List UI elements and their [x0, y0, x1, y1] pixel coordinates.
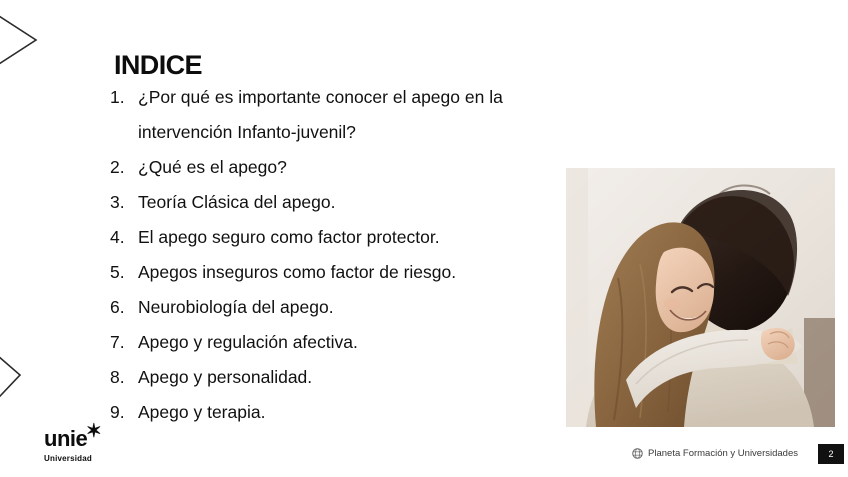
logo-wordmark: unie ✶	[44, 428, 87, 450]
list-item-number: 1.	[110, 80, 138, 115]
list-item-number: 6.	[110, 290, 138, 325]
slide-canvas: INDICE 1. ¿Por qué es importante conocer…	[0, 0, 848, 477]
list-item-label: Apegos inseguros como factor de riesgo.	[138, 255, 560, 290]
list-item-label: Neurobiología del apego.	[138, 290, 560, 325]
list-item-number: 8.	[110, 360, 138, 395]
page-title: INDICE	[114, 51, 202, 81]
globe-icon	[632, 448, 643, 459]
page-number-badge: 2	[818, 444, 844, 464]
list-item: 7. Apego y regulación afectiva.	[110, 325, 560, 360]
list-item: 2. ¿Qué es el apego?	[110, 150, 560, 185]
list-item-label: Apego y personalidad.	[138, 360, 560, 395]
logo-word-text: unie	[44, 426, 87, 451]
chevron-decoration-top	[0, 0, 40, 86]
planeta-branding: Planeta Formación y Universidades	[632, 448, 798, 459]
slide-photo	[566, 168, 835, 427]
list-item-label: Apego y regulación afectiva.	[138, 325, 560, 360]
logo-subtitle: Universidad	[44, 454, 154, 463]
list-item: 9. Apego y terapia.	[110, 395, 560, 430]
list-item: 3. Teoría Clásica del apego.	[110, 185, 560, 220]
list-item-label: Teoría Clásica del apego.	[138, 185, 560, 220]
list-item: 4. El apego seguro como factor protector…	[110, 220, 560, 255]
chevron-decoration-bottom	[0, 335, 26, 415]
list-item-number: 4.	[110, 220, 138, 255]
list-item-number: 7.	[110, 325, 138, 360]
index-list: 1. ¿Por qué es importante conocer el ape…	[110, 80, 560, 430]
list-item-label: ¿Qué es el apego?	[138, 150, 560, 185]
list-item-label: Apego y terapia.	[138, 395, 560, 430]
asterisk-icon: ✶	[86, 422, 101, 441]
unie-logo: unie ✶ Universidad	[44, 428, 154, 463]
list-item: 6. Neurobiología del apego.	[110, 290, 560, 325]
list-item-number: 3.	[110, 185, 138, 220]
brand-label: Planeta Formación y Universidades	[648, 448, 798, 459]
list-item-number: 5.	[110, 255, 138, 290]
list-item: 8. Apego y personalidad.	[110, 360, 560, 395]
list-item-number: 9.	[110, 395, 138, 430]
list-item-number: 2.	[110, 150, 138, 185]
list-item-label: El apego seguro como factor protector.	[138, 220, 560, 255]
list-item: 5. Apegos inseguros como factor de riesg…	[110, 255, 560, 290]
list-item: 1. ¿Por qué es importante conocer el ape…	[110, 80, 560, 150]
list-item-label: ¿Por qué es importante conocer el apego …	[138, 80, 560, 150]
